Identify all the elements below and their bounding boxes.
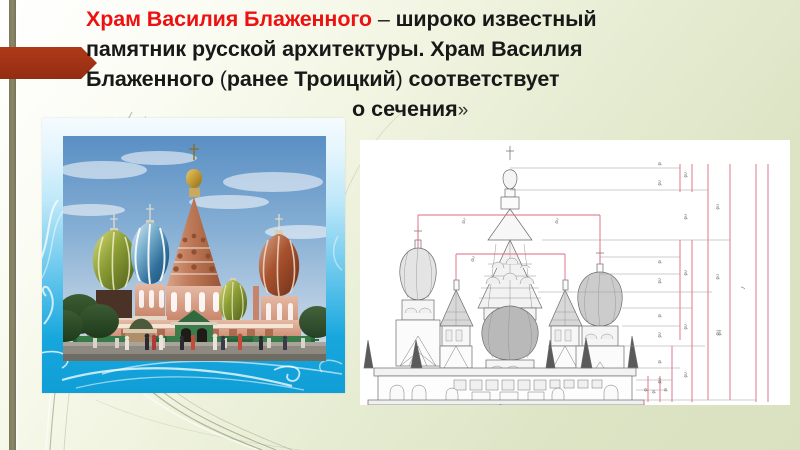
title-highlight: Храм Василия Блаженного <box>86 7 372 31</box>
cathedral-photo-art <box>63 136 326 361</box>
red-arrow-banner <box>0 47 97 79</box>
text-line-3: Блаженного (ранее Троицкий) соответствуе… <box>86 64 786 94</box>
text-line-1: Храм Василия Блаженного – широко известн… <box>86 4 786 34</box>
photo-frame <box>42 118 345 393</box>
text-line-4-visible: о сечения» <box>352 94 468 126</box>
slide: Храм Василия Блаженного – широко известн… <box>0 0 800 450</box>
text-line-4-tail: о сечения <box>352 97 458 121</box>
cathedral-photograph <box>63 136 326 361</box>
paren-open: ( <box>220 67 227 91</box>
text-line-3-a: Блаженного <box>86 67 220 91</box>
text-line-2: памятник русской архитектуры. Храм Васил… <box>86 34 786 64</box>
text-line-3-b: ранее Троицкий <box>227 67 396 91</box>
text-line-1-rest: широко известный <box>396 7 597 31</box>
proportion-drawing-art: φ φ² φ² φ³ φ³ φ φ² φ² φ³ φ φ² φ² φ³ φ φ²… <box>360 140 790 405</box>
title-dash: – <box>372 7 396 31</box>
text-line-3-c: соответствует <box>403 67 560 91</box>
proportion-drawing: φ φ² φ² φ³ φ³ φ φ² φ² φ³ φ φ² φ² φ³ φ φ²… <box>360 140 790 405</box>
paren-close: ) <box>396 67 403 91</box>
text-line-4-quote: » <box>458 100 469 121</box>
